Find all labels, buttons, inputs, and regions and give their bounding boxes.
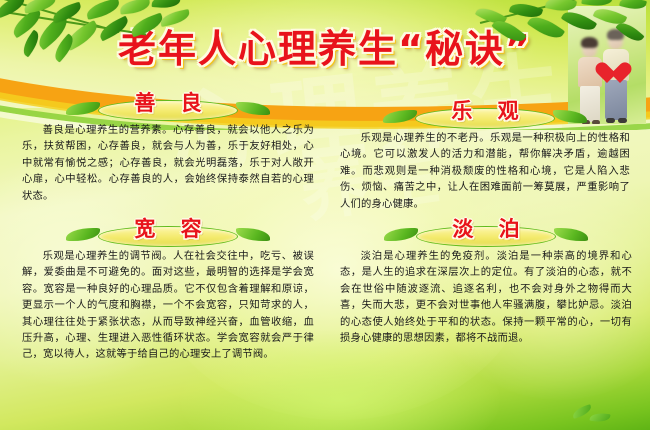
section-body-text: 淡泊是心理养生的免疫剂。淡泊是一种崇高的境界和心态，是人生的追求在深层次上的定位…: [340, 248, 632, 346]
heart-icon: [595, 62, 620, 85]
section-kuanrong: 宽 容 乐观是心理养生的调节阀。人在社会交往中，吃亏、被误解，爱委曲是不可避免的…: [22, 214, 314, 363]
section-danbo: 淡 泊 淡泊是心理养生的免疫剂。淡泊是一种崇高的境界和心态，是人生的追求在深层次…: [340, 214, 632, 346]
section-body-text: 善良是心理养生的营养素。心存善良，就会以他人之乐为乐，扶贫帮困，心存善良，就会与…: [22, 122, 314, 204]
section-body-text: 乐观是心理养生的调节阀。人在社会交往中，吃亏、被误解，爱委曲是不可避免的。面对这…: [22, 248, 314, 363]
section-title-text: 乐 观: [340, 96, 630, 126]
section-heading-leguan: 乐 观: [340, 96, 630, 130]
section-title-text: 淡 泊: [340, 214, 632, 244]
section-leguan: 乐 观 乐观是心理养生的不老丹。乐观是一种积极向上的性格和心境。它可以激发人的活…: [340, 96, 630, 212]
section-heading-danbo: 淡 泊: [340, 214, 632, 248]
hair: [581, 37, 598, 48]
page-title: 老年人心理养生“秘诀”: [0, 18, 650, 73]
poster-root: 心理养生 养生: [0, 0, 650, 430]
section-shanliang: 善 良 善良是心理养生的营养素。心存善良，就会以他人之乐为乐，扶贫帮困，心存善良…: [22, 88, 314, 204]
section-body-text: 乐观是心理养生的不老丹。乐观是一种积极向上的性格和心境。它可以激发人的活力和潜能…: [340, 130, 630, 212]
person-woman: [582, 40, 597, 58]
hair: [607, 29, 624, 40]
sections-container: 善 良 善良是心理养生的营养素。心存善良，就会以他人之乐为乐，扶贫帮困，心存善良…: [0, 86, 650, 430]
section-heading-kuanrong: 宽 容: [22, 214, 314, 248]
section-title-text: 善 良: [22, 88, 314, 118]
section-heading-shanliang: 善 良: [22, 88, 314, 122]
person-man: [608, 32, 623, 50]
section-title-text: 宽 容: [22, 214, 314, 244]
